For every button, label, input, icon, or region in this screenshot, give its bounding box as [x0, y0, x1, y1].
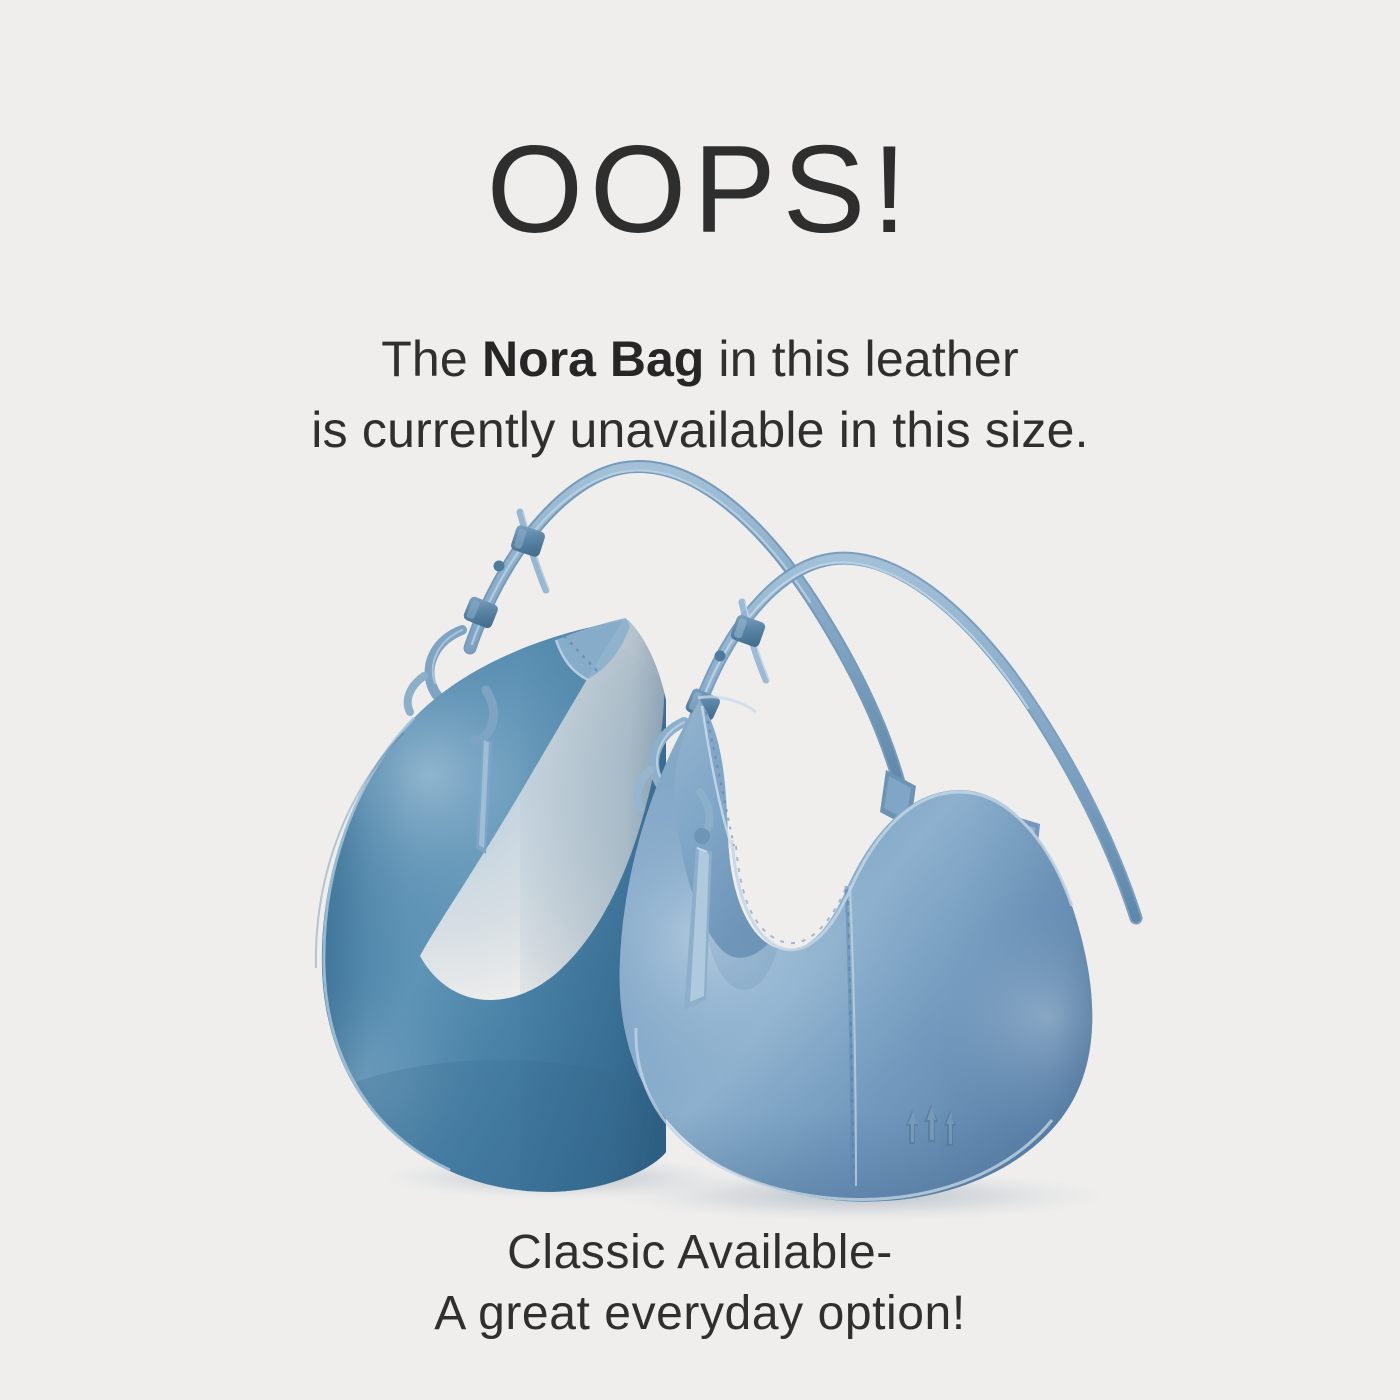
- back-bag-strap: [408, 467, 916, 828]
- message-suffix: in this leather: [704, 331, 1018, 387]
- strap-stud-upper: [494, 561, 505, 572]
- front-strap-stud: [715, 651, 726, 662]
- front-bag-opening-stitch: [732, 792, 1072, 950]
- unavailable-message: The Nora Bag in this leather is currentl…: [0, 324, 1400, 466]
- front-bag: [530, 697, 1170, 1240]
- unavailable-message-line-2: is currently unavailable in this size.: [0, 395, 1400, 466]
- front-bag-edge-stitch: [636, 1028, 1052, 1200]
- back-bag-edge-stitch: [324, 718, 450, 1170]
- back-bag-strap-tab-right: [880, 770, 916, 828]
- page-title: OOPS!: [0, 128, 1400, 252]
- product-name: Nora Bag: [482, 331, 704, 387]
- unavailable-message-line-1: The Nora Bag in this leather: [0, 324, 1400, 395]
- back-bag-zipper-pull: [474, 690, 494, 854]
- back-bag: [220, 600, 720, 1240]
- front-bag-left-horn-panel: [674, 700, 768, 958]
- caption-line-1: Classic Available-: [0, 1222, 1400, 1283]
- front-strap-hook-left: [637, 722, 710, 808]
- front-bag-strap-tab-right: [994, 812, 1040, 884]
- promo-card: OOPS! The Nora Bag in this leather is cu…: [0, 0, 1400, 1400]
- strap-keeper-upper: [510, 524, 547, 558]
- strap-keeper-lower: [462, 595, 499, 629]
- front-bag-strap: [637, 558, 1136, 918]
- back-bag-top-rim: [556, 618, 630, 680]
- front-bag-zipper-pull: [684, 792, 712, 1010]
- front-bag-top-edge: [698, 697, 756, 712]
- caption-line-2: A great everyday option!: [0, 1283, 1400, 1344]
- brand-logo-trees-icon: [906, 1104, 956, 1146]
- front-strap-keeper-lower: [684, 687, 722, 722]
- front-strap-keeper-upper: [729, 614, 766, 649]
- strap-hook-left: [408, 630, 484, 712]
- message-prefix: The: [381, 331, 482, 387]
- front-bag-center-seam: [846, 886, 856, 1186]
- availability-caption: Classic Available- A great everyday opti…: [0, 1222, 1400, 1345]
- bag-ground-shadow: [380, 1156, 1110, 1222]
